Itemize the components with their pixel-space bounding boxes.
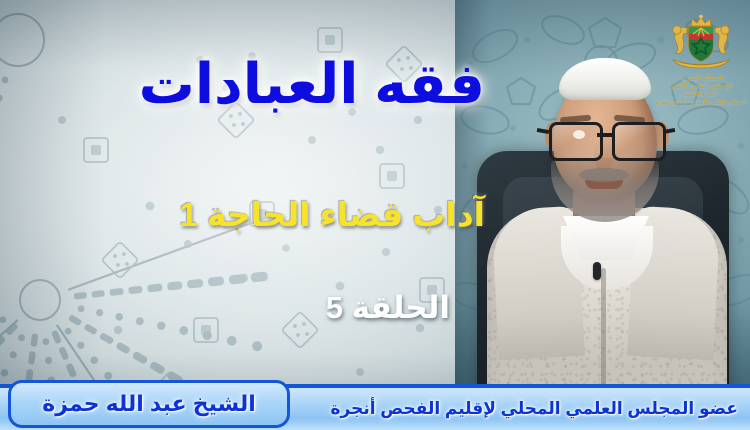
speaker-name-box: الشيخ عبد الله حمزة: [8, 380, 290, 428]
emblem-line-local-council: المجلس العلمي المحلي للفحص أنجرة: [655, 100, 747, 108]
mustache: [579, 168, 629, 182]
program-subtitle: آداب قضاء الحاجة 1: [179, 198, 485, 231]
program-main-title: فقه العبادات: [139, 56, 485, 112]
emblem-line-general-secretariat: الأمانة العامة: [655, 91, 747, 99]
institution-emblem-block: المملكة المغربية المجلس العلمي الأعلى ال…: [655, 14, 747, 126]
speaker-role-text: عضو المجلس العلمي المحلي لإقليم الفحص أن…: [331, 388, 739, 430]
lapel-microphone: [593, 262, 601, 280]
robe-seam: [601, 268, 606, 385]
speaker-name-text: الشيخ عبد الله حمزة: [42, 391, 255, 417]
eyeglasses: [547, 122, 665, 156]
lens-glare: [573, 130, 585, 139]
emblem-line-kingdom: المملكة المغربية: [655, 75, 747, 83]
broadcast-title-card: المملكة المغربية المجلس العلمي الأعلى ال…: [0, 0, 750, 430]
taqiyah-cap: [559, 58, 651, 100]
emblem-line-supreme-council: المجلس العلمي الأعلى: [655, 83, 747, 91]
emblem-text-lines: المملكة المغربية المجلس العلمي الأعلى ال…: [655, 75, 747, 107]
morocco-coat-of-arms-icon: [665, 14, 737, 72]
episode-label: الحلقة 5: [326, 292, 450, 323]
